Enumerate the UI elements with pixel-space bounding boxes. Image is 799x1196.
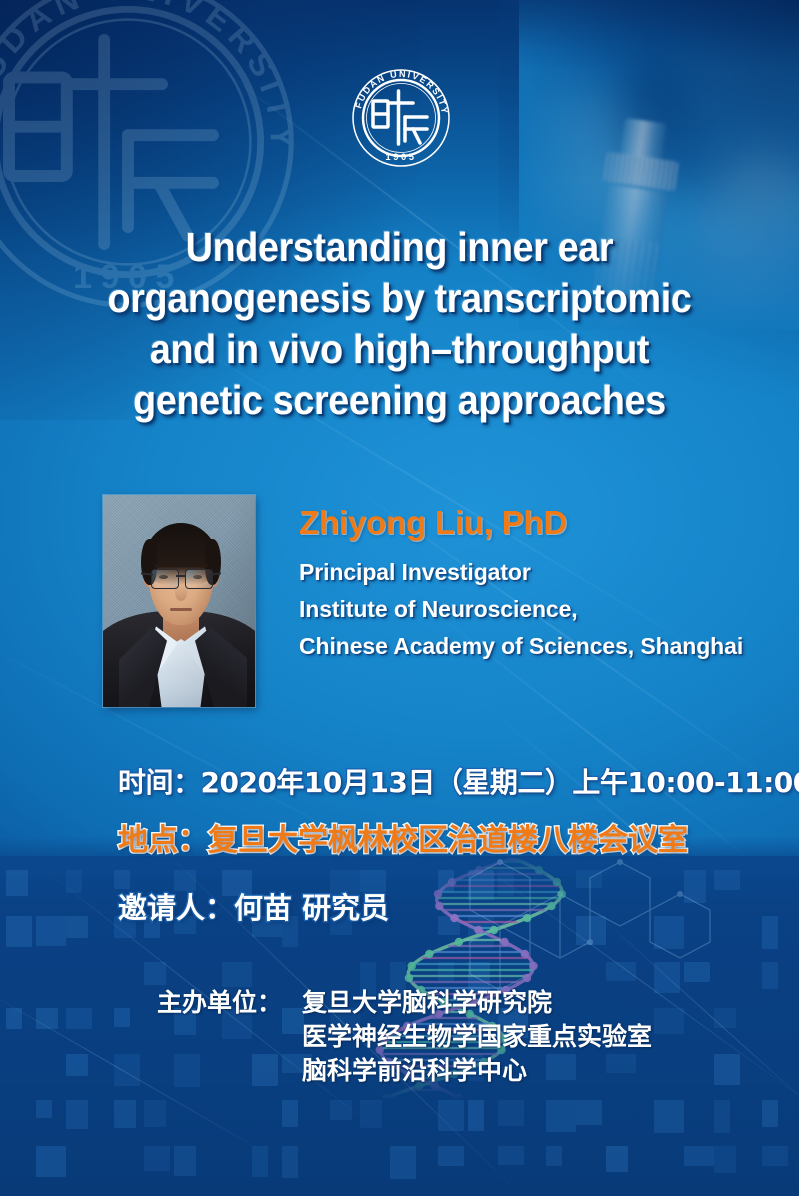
organizers-list: 复旦大学脑科学研究院 医学神经生物学国家重点实验室 脑科学前沿科学中心 (302, 986, 652, 1088)
speaker-affiliation-line-2: Institute of Neuroscience, (299, 591, 769, 628)
organizers-block: 主办单位： 复旦大学脑科学研究院 医学神经生物学国家重点实验室 脑科学前沿科学中… (157, 986, 652, 1088)
organizers-label: 主办单位： (157, 986, 282, 1020)
seminar-poster: FUDAN UNIVERSITY 1905 (0, 0, 799, 1196)
title-line-1: Understanding inner ear (32, 222, 767, 273)
title-line-4: genetic screening approaches (32, 375, 767, 426)
poster-title: Understanding inner ear organogenesis by… (32, 222, 767, 426)
organizer-item-1: 复旦大学脑科学研究院 (302, 986, 652, 1020)
organizer-item-3: 脑科学前沿科学中心 (302, 1054, 652, 1088)
event-time: 时间：2020年10月13日（星期二）上午10:00-11:00 (118, 761, 799, 801)
title-line-3: and in vivo high–throughput (32, 324, 767, 375)
speaker-name: Zhiyong Liu, PhD (299, 504, 567, 542)
title-line-2: organogenesis by transcriptomic (32, 273, 767, 324)
speaker-photo (103, 495, 255, 707)
event-place: 地点：复旦大学枫林校区治道楼八楼会议室 (118, 815, 688, 859)
speaker-affiliation-line-3: Chinese Academy of Sciences, Shanghai (299, 628, 769, 665)
svg-text:1905: 1905 (385, 152, 416, 163)
event-host: 邀请人：何苗 研究员 (118, 885, 389, 927)
speaker-affiliation: Principal Investigator Institute of Neur… (299, 554, 769, 665)
fudan-university-logo: FUDAN UNIVERSITY 1905 (351, 68, 451, 168)
speaker-affiliation-line-1: Principal Investigator (299, 554, 769, 591)
organizer-item-2: 医学神经生物学国家重点实验室 (302, 1020, 652, 1054)
